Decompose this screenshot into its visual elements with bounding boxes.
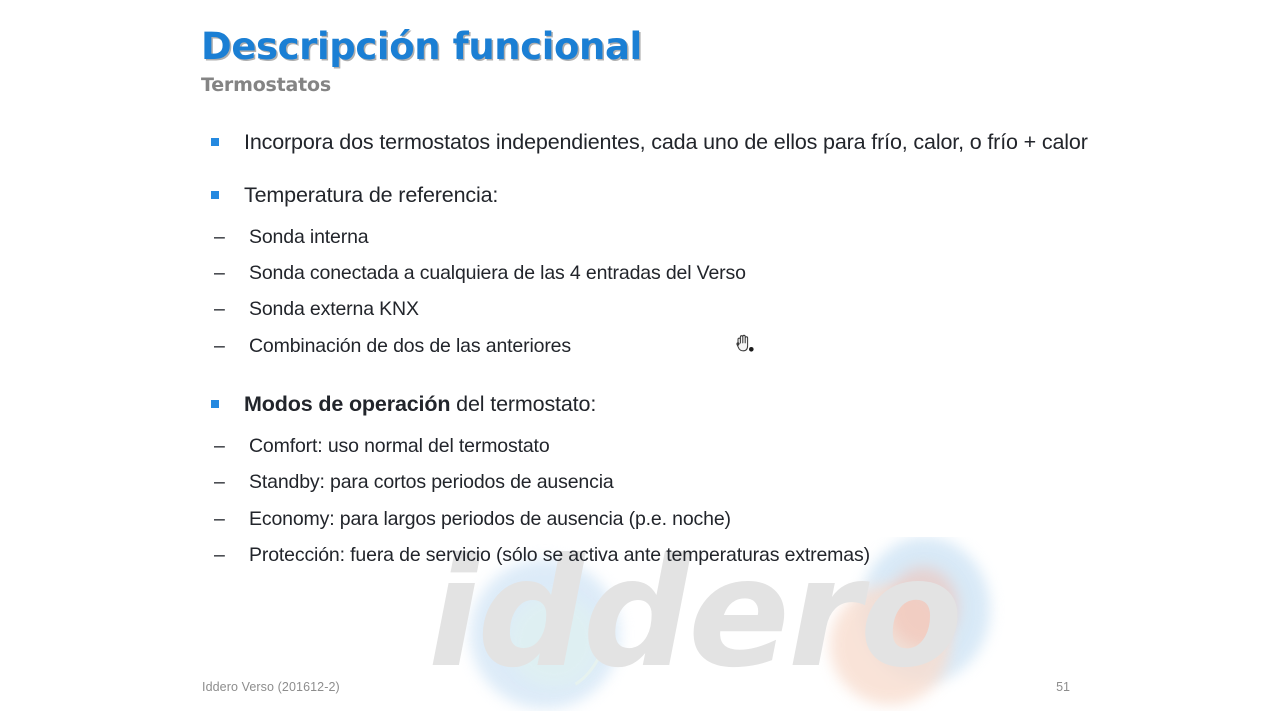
sub-list-item-text: Combinación de dos de las anteriores — [249, 335, 571, 357]
watermark-blob-cyan — [508, 595, 600, 687]
list-item-text: Temperatura de referencia: — [244, 183, 498, 207]
watermark-blob-blue-1 — [470, 559, 620, 709]
sub-list-item-text: Sonda interna — [249, 226, 368, 248]
square-bullet-icon — [211, 400, 219, 408]
dash-bullet-icon: – — [214, 428, 225, 464]
dash-bullet-icon: – — [214, 328, 225, 364]
list-item: Incorpora dos termostatos independientes… — [201, 124, 1091, 161]
dash-bullet-icon: – — [214, 255, 225, 291]
list-item-text: Incorpora dos termostatos independientes… — [244, 130, 1088, 154]
watermark-swoosh — [520, 574, 624, 701]
sub-list-item-text: Sonda conectada a cualquiera de las 4 en… — [249, 262, 746, 284]
list-item: Temperatura de referencia: — [201, 177, 1091, 214]
sub-list-item: – Standby: para cortos periodos de ausen… — [201, 464, 1091, 500]
slide-page[interactable]: iddero Descripción funcional Termostatos… — [170, 0, 1112, 711]
list-item-text-bold: Modos de operación — [244, 392, 450, 416]
sub-list-item: – Sonda externa KNX — [201, 291, 1091, 327]
dash-bullet-icon: – — [214, 464, 225, 500]
sub-list-item-text: Protección: fuera de servicio (sólo se a… — [249, 544, 870, 566]
sub-list-item-text: Sonda externa KNX — [249, 298, 419, 320]
sub-list: – Sonda interna – Sonda conectada a cual… — [201, 219, 1091, 364]
dash-bullet-icon: – — [214, 537, 225, 573]
sub-list-item: – Economy: para largos periodos de ausen… — [201, 501, 1091, 537]
page-title: Descripción funcional — [201, 28, 642, 67]
sub-list-item: – Protección: fuera de servicio (sólo se… — [201, 537, 1091, 573]
sub-list: – Comfort: uso normal del termostato – S… — [201, 428, 1091, 573]
sub-list-item-text: Comfort: uso normal del termostato — [249, 435, 550, 457]
page-number: 51 — [1056, 680, 1070, 694]
list-item-text: del termostato: — [450, 392, 596, 416]
document-viewer[interactable]: iddero Descripción funcional Termostatos… — [0, 0, 1278, 711]
list-item: Modos de operación del termostato: — [201, 386, 1091, 423]
title-block: Descripción funcional Termostatos — [201, 28, 642, 96]
sub-list-item: – Comfort: uso normal del termostato — [201, 428, 1091, 464]
footer-document-label: Iddero Verso (201612-2) — [202, 680, 340, 694]
sub-list-item: – Combinación de dos de las anteriores — [201, 328, 1091, 364]
watermark-blob-red — [888, 567, 958, 647]
sub-list-item: – Sonda conectada a cualquiera de las 4 … — [201, 255, 1091, 291]
dash-bullet-icon: – — [214, 291, 225, 327]
sub-list-item: – Sonda interna — [201, 219, 1091, 255]
square-bullet-icon — [211, 191, 219, 199]
sub-list-item-text: Economy: para largos periodos de ausenci… — [249, 508, 731, 530]
slide-body: Incorpora dos termostatos independientes… — [201, 124, 1091, 573]
page-subtitle: Termostatos — [201, 74, 642, 96]
square-bullet-icon — [211, 138, 219, 146]
watermark-blob-peach — [830, 585, 950, 705]
dash-bullet-icon: – — [214, 219, 225, 255]
sub-list-item-text: Standby: para cortos periodos de ausenci… — [249, 471, 614, 493]
dash-bullet-icon: – — [214, 501, 225, 537]
